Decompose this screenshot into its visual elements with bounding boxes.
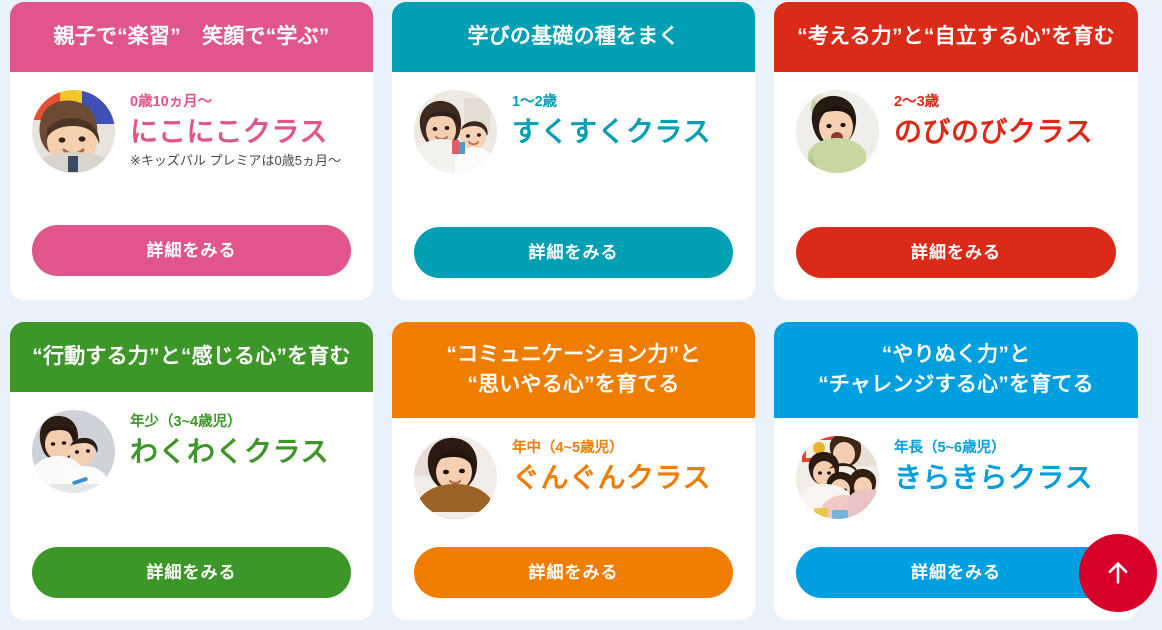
- age-label: 年少（3~4歳児）: [130, 412, 351, 432]
- arrow-up-icon: [1104, 559, 1132, 587]
- age-label: 年長（5~6歳児）: [894, 438, 1116, 458]
- age-label: 2〜3歳: [894, 92, 1116, 112]
- class-note: ※キッズパル プレミアは0歳5ヵ月〜: [130, 152, 351, 171]
- class-name: のびのびクラス: [894, 114, 1116, 150]
- card-info-text: 年少（3~4歳児） わくわくクラス: [130, 410, 351, 471]
- detail-button-gungun[interactable]: 詳細をみる: [414, 547, 733, 598]
- card-header-gungun: “コミュニケーション力”と “思いやる心”を育てる: [392, 322, 755, 418]
- detail-button-nikoniko[interactable]: 詳細をみる: [32, 225, 351, 276]
- card-body-kirakira: 年長（5~6歳児） きらきらクラス: [774, 418, 1138, 547]
- scroll-to-top-button[interactable]: [1079, 534, 1157, 612]
- class-card-gungun[interactable]: “コミュニケーション力”と “思いやる心”を育てる: [392, 322, 755, 620]
- card-header-nobinobi: “考える力”と“自立する心”を育む: [774, 2, 1138, 72]
- age-label: 1〜2歳: [512, 92, 733, 112]
- avatar: [32, 90, 115, 173]
- avatar: [414, 436, 497, 519]
- card-info-row: 年長（5~6歳児） きらきらクラス: [796, 436, 1116, 519]
- card-info-text: 0歳10ヵ月〜 にこにこクラス ※キッズパル プレミアは0歳5ヵ月〜: [130, 90, 351, 171]
- class-name: すくすくクラス: [512, 114, 733, 150]
- card-footer: 詳細をみる: [392, 227, 755, 300]
- card-header-kirakira: “やりぬく力”と “チャレンジする心”を育てる: [774, 322, 1138, 418]
- card-info-row: 1〜2歳 すくすくクラス: [414, 90, 733, 173]
- detail-button-sukusuku[interactable]: 詳細をみる: [414, 227, 733, 278]
- age-label: 年中（4~5歳児）: [512, 438, 733, 458]
- class-name: きらきらクラス: [894, 460, 1116, 496]
- card-header-wakuwaku: “行動する力”と“感じる心”を育む: [10, 322, 373, 392]
- card-info-row: 年中（4~5歳児） ぐんぐんクラス: [414, 436, 733, 519]
- card-header-nikoniko: 親子で“楽習” 笑顔で“学ぶ”: [10, 2, 373, 72]
- card-info-text: 年中（4~5歳児） ぐんぐんクラス: [512, 436, 733, 497]
- card-info-text: 1〜2歳 すくすくクラス: [512, 90, 733, 151]
- class-card-nobinobi[interactable]: “考える力”と“自立する心”を育む: [774, 2, 1138, 300]
- class-name: わくわくクラス: [130, 434, 351, 470]
- class-card-grid: 親子で“楽習” 笑顔で“学ぶ”: [10, 2, 1152, 620]
- card-header-sukusuku: 学びの基礎の種をまく: [392, 2, 755, 72]
- avatar: [414, 90, 497, 173]
- detail-button-nobinobi[interactable]: 詳細をみる: [796, 227, 1116, 278]
- class-card-nikoniko[interactable]: 親子で“楽習” 笑顔で“学ぶ”: [10, 2, 373, 300]
- card-body-gungun: 年中（4~5歳児） ぐんぐんクラス: [392, 418, 755, 547]
- card-footer: 詳細をみる: [392, 547, 755, 620]
- class-name: ぐんぐんクラス: [512, 460, 733, 496]
- card-body-sukusuku: 1〜2歳 すくすくクラス: [392, 72, 755, 227]
- card-footer: 詳細をみる: [10, 547, 373, 620]
- class-name: にこにこクラス: [130, 114, 351, 150]
- detail-button-wakuwaku[interactable]: 詳細をみる: [32, 547, 351, 598]
- card-body-wakuwaku: 年少（3~4歳児） わくわくクラス: [10, 392, 373, 547]
- avatar: [32, 410, 115, 493]
- age-label: 0歳10ヵ月〜: [130, 92, 351, 112]
- detail-button-kirakira[interactable]: 詳細をみる: [796, 547, 1116, 598]
- avatar: [796, 90, 879, 173]
- class-card-wakuwaku[interactable]: “行動する力”と“感じる心”を育む: [10, 322, 373, 620]
- card-info-row: 0歳10ヵ月〜 にこにこクラス ※キッズパル プレミアは0歳5ヵ月〜: [32, 90, 351, 173]
- card-body-nobinobi: 2〜3歳 のびのびクラス: [774, 72, 1138, 227]
- card-info-text: 年長（5~6歳児） きらきらクラス: [894, 436, 1116, 497]
- card-footer: 詳細をみる: [10, 225, 373, 300]
- class-card-sukusuku[interactable]: 学びの基礎の種をまく: [392, 2, 755, 300]
- avatar: [796, 436, 879, 519]
- card-footer: 詳細をみる: [774, 227, 1138, 300]
- card-info-text: 2〜3歳 のびのびクラス: [894, 90, 1116, 151]
- card-body-nikoniko: 0歳10ヵ月〜 にこにこクラス ※キッズパル プレミアは0歳5ヵ月〜: [10, 72, 373, 225]
- card-info-row: 年少（3~4歳児） わくわくクラス: [32, 410, 351, 493]
- card-info-row: 2〜3歳 のびのびクラス: [796, 90, 1116, 173]
